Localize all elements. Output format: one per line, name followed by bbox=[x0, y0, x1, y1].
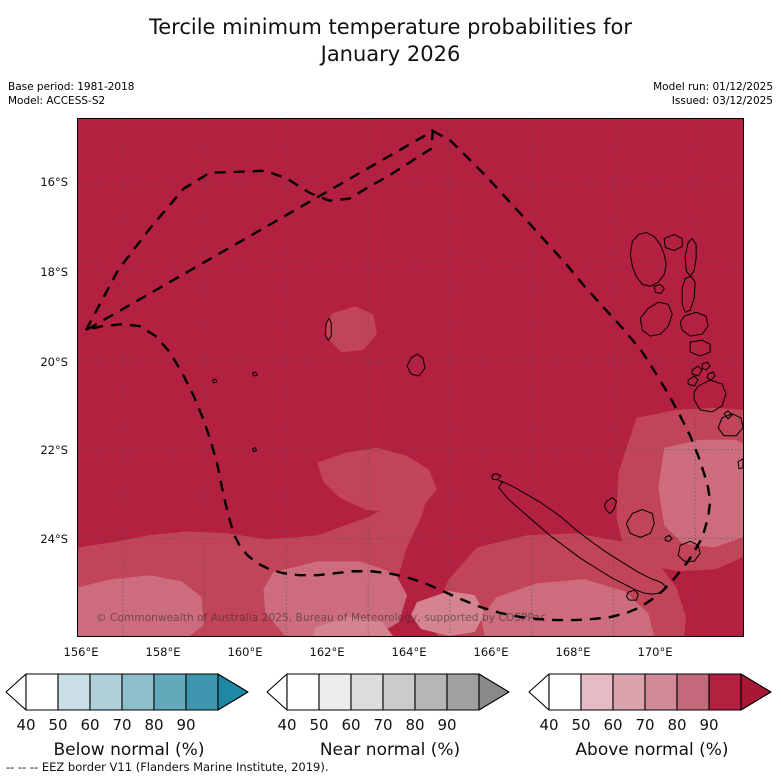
tercile-probability-map bbox=[78, 119, 743, 636]
cbar2-cell-1 bbox=[319, 674, 351, 710]
y-tick-24S: 24°S bbox=[0, 532, 68, 546]
meta-right-block: Model run: 01/12/2025 Issued: 03/12/2025 bbox=[653, 80, 773, 108]
cbar3-cell-3 bbox=[645, 674, 677, 710]
cbar1-cell-4 bbox=[154, 674, 186, 710]
map-plot-area[interactable] bbox=[77, 118, 744, 637]
cbar2-tick-80: 80 bbox=[405, 716, 424, 734]
issued-label: Issued: 03/12/2025 bbox=[653, 94, 773, 108]
cbar3-tick-50: 50 bbox=[571, 716, 590, 734]
cbar2-cell-3 bbox=[383, 674, 415, 710]
cbar1-cell-2 bbox=[90, 674, 122, 710]
cbar2-cell-0 bbox=[287, 674, 319, 710]
colorbar-below-normal[interactable]: 40 50 60 70 80 90 Below normal (%) bbox=[4, 668, 254, 760]
cbar1-tick-80: 80 bbox=[144, 716, 163, 734]
cbar1-cell-5 bbox=[186, 674, 218, 710]
colorbar-near-normal-title: Near normal (%) bbox=[265, 740, 515, 760]
cbar1-cell-1 bbox=[58, 674, 90, 710]
cbar2-arrow-low bbox=[267, 674, 287, 710]
cbar3-tick-80: 80 bbox=[667, 716, 686, 734]
cbar1-cell-0 bbox=[26, 674, 58, 710]
contour-band-60-70-southwest bbox=[78, 575, 204, 636]
cbar3-tick-70: 70 bbox=[635, 716, 654, 734]
cbar1-tick-90: 90 bbox=[176, 716, 195, 734]
x-tick-160E: 160°E bbox=[228, 645, 263, 659]
colorbar-near-normal-swatches[interactable] bbox=[265, 668, 515, 716]
colorbar-below-normal-title: Below normal (%) bbox=[4, 740, 254, 760]
cbar2-cell-2 bbox=[351, 674, 383, 710]
cbar3-cell-2 bbox=[613, 674, 645, 710]
cbar1-arrow-high bbox=[218, 674, 248, 710]
title-line-2: January 2026 bbox=[0, 41, 781, 68]
cbar1-cell-3 bbox=[122, 674, 154, 710]
colorbar-above-normal-ticks: 40 50 60 70 80 90 bbox=[527, 716, 777, 738]
colorbar-above-normal-title: Above normal (%) bbox=[527, 740, 777, 760]
colorbar-near-normal[interactable]: 40 50 60 70 80 90 Near normal (%) bbox=[265, 668, 515, 760]
longitude-axis: 156°E 158°E 160°E 162°E 164°E 166°E 168°… bbox=[0, 645, 781, 665]
model-run-label: Model run: 01/12/2025 bbox=[653, 80, 773, 94]
page-title: Tercile minimum temperature probabilitie… bbox=[0, 14, 781, 68]
eez-border-footnote: -- -- -- EEZ border V11 (Flanders Marine… bbox=[6, 760, 328, 774]
y-tick-20S: 20°S bbox=[0, 355, 68, 369]
title-line-1: Tercile minimum temperature probabilitie… bbox=[0, 14, 781, 41]
cbar2-tick-60: 60 bbox=[341, 716, 360, 734]
cbar3-tick-90: 90 bbox=[699, 716, 718, 734]
cbar2-tick-70: 70 bbox=[373, 716, 392, 734]
cbar2-cell-5 bbox=[447, 674, 479, 710]
colorbar-above-normal-swatches[interactable] bbox=[527, 668, 777, 716]
cbar3-cell-1 bbox=[581, 674, 613, 710]
cbar2-tick-50: 50 bbox=[309, 716, 328, 734]
colorbar-below-normal-swatches[interactable] bbox=[4, 668, 254, 716]
cbar2-cell-4 bbox=[415, 674, 447, 710]
y-tick-16S: 16°S bbox=[0, 175, 68, 189]
x-tick-156E: 156°E bbox=[64, 645, 99, 659]
cbar3-arrow-high bbox=[741, 674, 771, 710]
cbar1-arrow-low bbox=[6, 674, 26, 710]
cbar1-tick-70: 70 bbox=[112, 716, 131, 734]
cbar1-tick-40: 40 bbox=[16, 716, 35, 734]
cbar1-tick-50: 50 bbox=[48, 716, 67, 734]
colorbar-near-normal-ticks: 40 50 60 70 80 90 bbox=[265, 716, 515, 738]
cbar3-arrow-low bbox=[529, 674, 549, 710]
y-tick-22S: 22°S bbox=[0, 443, 68, 457]
cbar3-cell-0 bbox=[549, 674, 581, 710]
x-tick-166E: 166°E bbox=[474, 645, 509, 659]
colorbar-above-normal[interactable]: 40 50 60 70 80 90 Above normal (%) bbox=[527, 668, 777, 760]
y-tick-18S: 18°S bbox=[0, 265, 68, 279]
cbar1-tick-60: 60 bbox=[80, 716, 99, 734]
cbar3-tick-40: 40 bbox=[539, 716, 558, 734]
cbar3-cell-4 bbox=[677, 674, 709, 710]
x-tick-162E: 162°E bbox=[310, 645, 345, 659]
contour-band-60-70-east bbox=[658, 440, 743, 548]
x-tick-168E: 168°E bbox=[556, 645, 591, 659]
colorbar-below-normal-ticks: 40 50 60 70 80 90 bbox=[4, 716, 254, 738]
cbar2-arrow-high bbox=[479, 674, 509, 710]
cbar3-tick-60: 60 bbox=[603, 716, 622, 734]
x-tick-164E: 164°E bbox=[392, 645, 427, 659]
cbar2-tick-90: 90 bbox=[437, 716, 456, 734]
cbar2-tick-40: 40 bbox=[277, 716, 296, 734]
x-tick-158E: 158°E bbox=[146, 645, 181, 659]
cbar3-cell-5 bbox=[709, 674, 741, 710]
x-tick-170E: 170°E bbox=[638, 645, 673, 659]
map-copyright: © Commonwealth of Australia 2025, Bureau… bbox=[96, 612, 546, 624]
